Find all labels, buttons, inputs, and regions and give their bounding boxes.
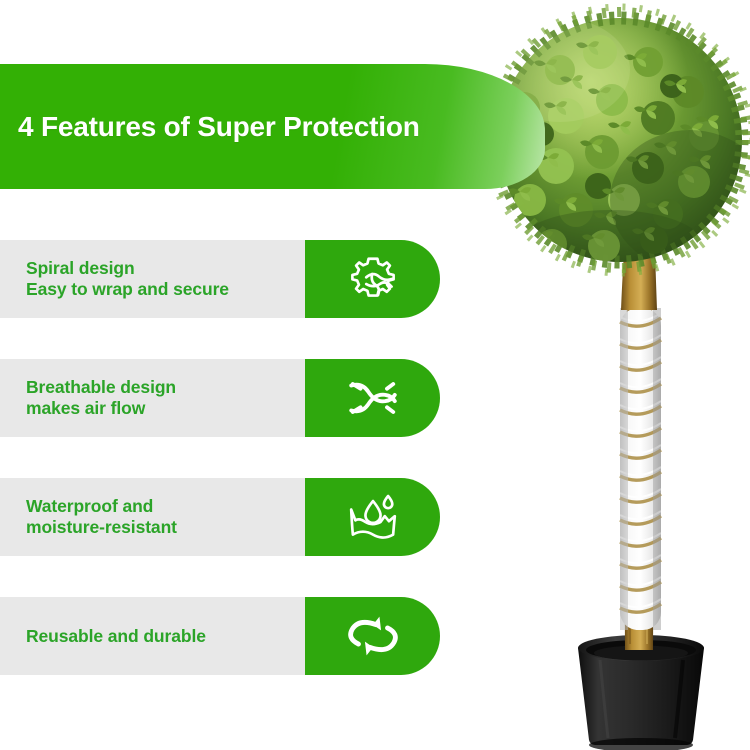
header-banner: 4 Features of Super Protection [0,64,545,189]
feature-row: Spiral design Easy to wrap and secure [0,240,440,318]
feature-list: Spiral design Easy to wrap and secure Br… [0,240,440,675]
feature-text-block: Spiral design Easy to wrap and secure [0,240,305,318]
gear-leaf-icon [346,252,400,306]
feature-line: Waterproof and [26,496,305,517]
feature-icon-panel [305,240,440,318]
feature-row: Breathable design makes air flow [0,359,440,437]
feature-line: Breathable design [26,377,305,398]
feature-text-block: Breathable design makes air flow [0,359,305,437]
recycle-loop-icon [344,613,402,659]
tree-trunk [625,300,654,650]
feature-row: Waterproof and moisture-resistant [0,478,440,556]
spiral-trunk-wrap [620,308,661,630]
airflow-cross-icon [345,375,401,421]
plant-pot [578,635,704,750]
upper-trunk [621,252,657,310]
page-title: 4 Features of Super Protection [0,111,420,143]
feature-text-block: Reusable and durable [0,597,305,675]
feature-line: Reusable and durable [26,626,305,647]
feature-text-block: Waterproof and moisture-resistant [0,478,305,556]
feature-icon-panel [305,478,440,556]
feature-line: Spiral design [26,258,305,279]
feature-icon-panel [305,359,440,437]
feature-line: moisture-resistant [26,517,305,538]
water-droplet-fabric-icon [344,491,402,543]
product-feature-infographic: 4 Features of Super Protection Spiral de… [0,0,750,750]
feature-line: makes air flow [26,398,305,419]
feature-row: Reusable and durable [0,597,440,675]
feature-line: Easy to wrap and secure [26,279,305,300]
feature-icon-panel [305,597,440,675]
